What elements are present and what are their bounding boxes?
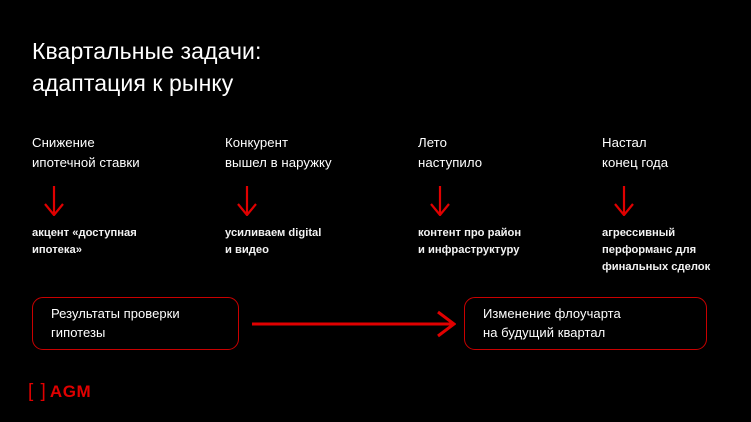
column-2-body: усиливаем digital и видео — [225, 225, 405, 259]
arrow-down-icon — [427, 186, 453, 216]
flow-column-2: Конкурент вышел в наружку усиливаем digi… — [225, 133, 405, 259]
column-4-header: Настал конец года — [602, 133, 742, 174]
column-2-header: Конкурент вышел в наружку — [225, 133, 405, 174]
slide-canvas: Квартальные задачи: адаптация к рынку Сн… — [0, 0, 751, 422]
outcome-box-left[interactable]: Результаты проверки гипотезы — [32, 297, 239, 350]
agm-logo: [ ] AGM — [28, 382, 91, 401]
column-4-body: агрессивный перформанс для финальных сде… — [602, 225, 742, 276]
column-3-header: Лето наступило — [418, 133, 593, 174]
flow-column-4: Настал конец года агрессивный перформанс… — [602, 133, 742, 276]
slide-title: Квартальные задачи: адаптация к рынку — [32, 36, 452, 99]
logo-bracket-mark: [ ] — [28, 382, 47, 401]
outcome-box-left-label: Результаты проверки гипотезы — [51, 305, 180, 343]
column-1-body: акцент «доступная ипотека» — [32, 225, 212, 259]
flow-column-1: Снижение ипотечной ставки акцент «доступ… — [32, 133, 212, 259]
arrow-down-icon — [41, 186, 67, 216]
column-3-body: контент про район и инфраструктуру — [418, 225, 593, 259]
arrow-down-icon — [611, 186, 637, 216]
outcome-box-right-label: Изменение флоучарта на будущий квартал — [483, 305, 621, 343]
outcome-box-right[interactable]: Изменение флоучарта на будущий квартал — [464, 297, 707, 350]
column-1-header: Снижение ипотечной ставки — [32, 133, 212, 174]
logo-wordmark: AGM — [50, 383, 91, 400]
arrow-right-icon — [252, 308, 456, 340]
arrow-down-icon — [234, 186, 260, 216]
flow-column-3: Лето наступило контент про район и инфра… — [418, 133, 593, 259]
